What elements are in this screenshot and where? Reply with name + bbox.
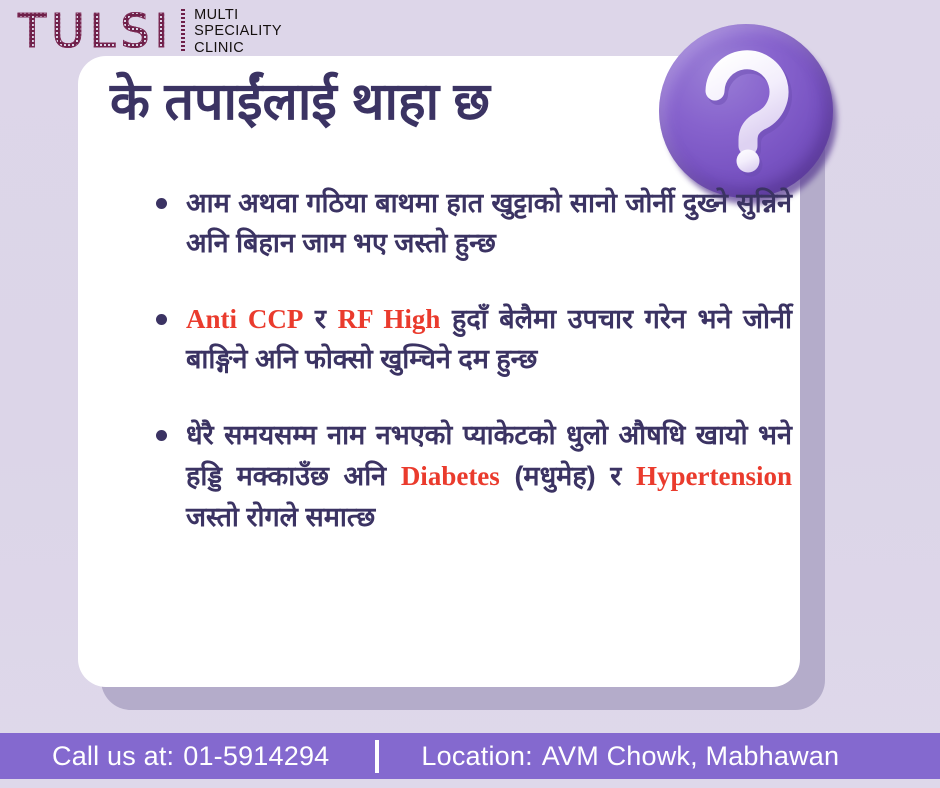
footer-content: Call us at: 01-5914294 Location: AVM Cho… <box>52 740 839 773</box>
list-item: आम अथवा गठिया बाथमा हात खुट्टाको सानो जो… <box>152 183 792 263</box>
footer-contact-bar: Call us at: 01-5914294 Location: AVM Cho… <box>0 733 940 779</box>
brand-wordmark: TULSI <box>18 6 179 56</box>
bullet-text-2: Anti CCP र RF High हुदाँ बेलैमा उपचार गर… <box>186 304 792 374</box>
bullet-1-segment-0: आम अथवा गठिया बाथमा हात खुट्टाको सानो जो… <box>186 188 792 258</box>
bullet-marker-icon <box>156 430 167 441</box>
bullet-2-segment-1: र <box>303 304 337 334</box>
location-label: Location: <box>421 741 532 771</box>
brand-subtitle: MULTI SPECIALITY CLINIC <box>194 6 282 57</box>
clinic-address: AVM Chowk, Mabhawan <box>542 741 839 771</box>
bullet-2-segment-2: RF High <box>338 304 441 334</box>
brand-subtitle-line-3: CLINIC <box>194 40 282 57</box>
brand-subtitle-line-1: MULTI <box>194 7 282 24</box>
bullet-3-segment-1: Diabetes <box>401 461 500 491</box>
bullet-marker-icon <box>156 314 167 325</box>
list-item: धेरै समयसम्म नाम नभएको प्याकेटको धुलो औष… <box>152 415 792 538</box>
bullet-2-segment-0: Anti CCP <box>186 304 303 334</box>
question-mark-icon <box>659 24 833 198</box>
bullet-text-3: धेरै समयसम्म नाम नभएको प्याकेटको धुलो औष… <box>186 420 792 532</box>
footer-divider <box>375 740 379 773</box>
list-item: Anti CCP र RF High हुदाँ बेलैमा उपचार गर… <box>152 299 792 379</box>
bullet-marker-icon <box>156 198 167 209</box>
bullet-3-segment-3: Hypertension <box>636 461 792 491</box>
bullet-list: आम अथवा गठिया बाथमा हात खुट्टाको सानो जो… <box>152 183 792 538</box>
bullet-3-segment-4: जस्तो रोगले समात्छ <box>186 502 375 532</box>
brand-logo: TULSI MULTI SPECIALITY CLINIC <box>18 4 282 58</box>
bullet-text-1: आम अथवा गठिया बाथमा हात खुट्टाको सानो जो… <box>186 188 792 258</box>
poster-canvas: TULSI MULTI SPECIALITY CLINIC के तपाईंला… <box>0 0 940 788</box>
bullet-3-segment-2: (मधुमेह) र <box>500 461 636 491</box>
question-mark-badge <box>659 24 839 204</box>
brand-subtitle-line-2: SPECIALITY <box>194 23 282 40</box>
logo-dotted-divider <box>181 9 185 53</box>
page-title: के तपाईंलाई थाहा छ <box>110 66 690 138</box>
phone-number[interactable]: 01-5914294 <box>183 741 329 771</box>
call-label: Call us at: <box>52 741 174 771</box>
